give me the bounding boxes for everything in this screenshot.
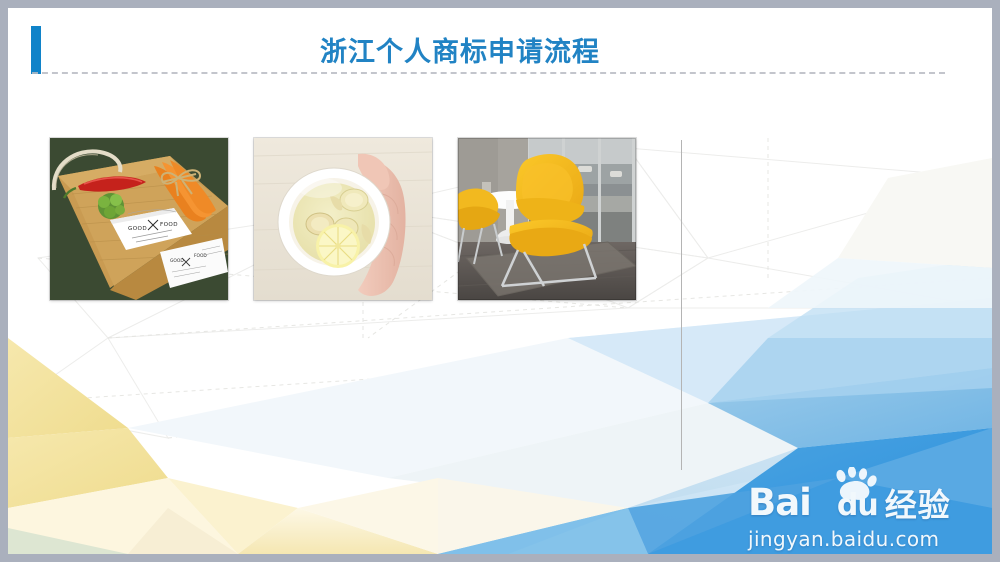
baidu-jingyan-cn-text: 经验 — [885, 489, 951, 521]
svg-text:FOOD: FOOD — [194, 253, 207, 259]
food-branding-photo: GOOD FOOD — [50, 138, 228, 300]
content-vertical-divider — [681, 140, 682, 470]
svg-text:FOOD: FOOD — [160, 222, 178, 228]
yellow-office-chairs-photo — [458, 138, 636, 300]
svg-text:GOOD: GOOD — [128, 226, 147, 232]
title-divider-line — [32, 72, 945, 74]
svg-text:GOOD: GOOD — [170, 258, 184, 264]
baidu-jingyan-url: jingyan.baidu.com — [748, 527, 963, 551]
baidu-bai-text: Bai — [748, 484, 811, 521]
slide-canvas: 浙江个人商标申请流程 — [8, 8, 992, 554]
presentation-window-frame: 浙江个人商标申请流程 — [0, 0, 1000, 562]
page-title: 浙江个人商标申请流程 — [8, 30, 992, 69]
ginger-lemon-tea-photo — [254, 138, 432, 300]
baidu-logo: Bai du 经验 — [748, 479, 963, 521]
paw-print-icon — [832, 467, 878, 501]
image-gallery: GOOD FOOD — [50, 138, 660, 300]
baidu-jingyan-watermark: Bai du 经验 jingyan.baidu.com — [748, 479, 963, 551]
